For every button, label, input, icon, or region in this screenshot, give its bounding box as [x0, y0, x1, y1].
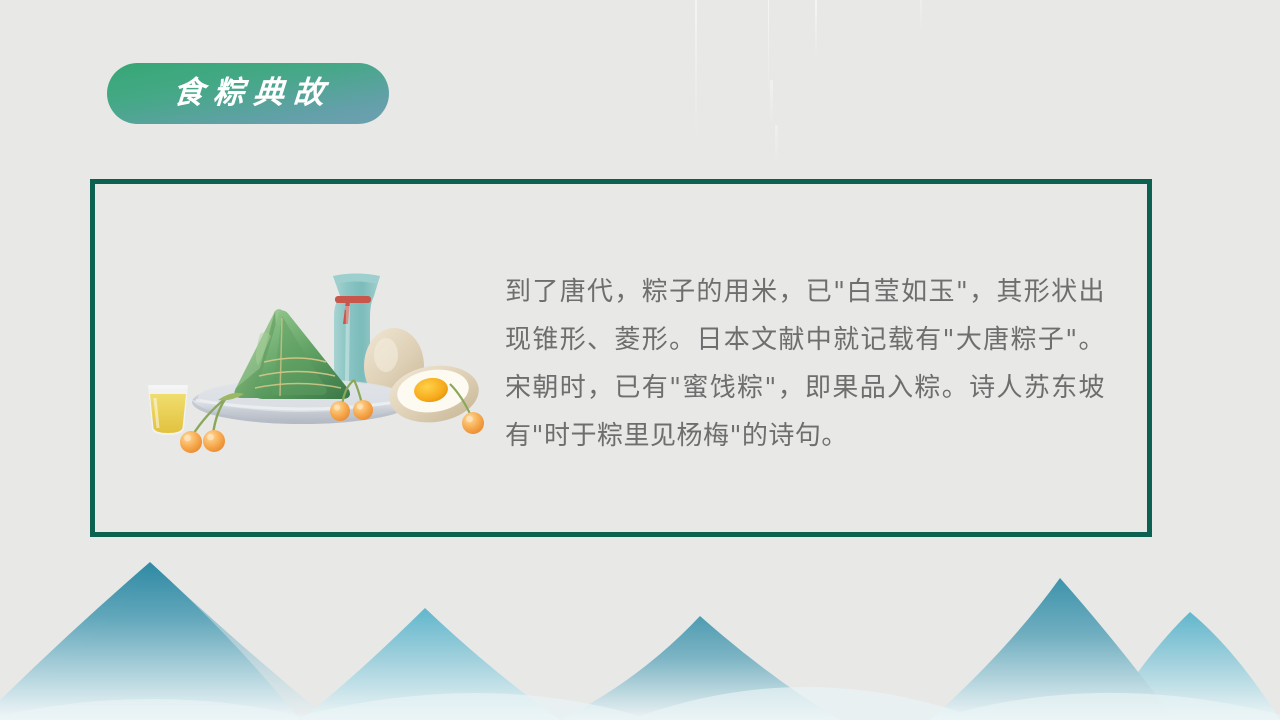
mountain-decoration: [0, 520, 1280, 720]
watermark-streak: [775, 125, 778, 165]
page-title: 食粽典故: [162, 78, 333, 109]
slide-canvas: 食粽典故: [0, 0, 1280, 720]
watermark-streak: [768, 0, 769, 100]
body-paragraph: 到了唐代，粽子的用米，已"白莹如玉"，其形状出现锥形、菱形。日本文献中就记载有"…: [505, 268, 1105, 460]
watermark-streak: [695, 0, 697, 140]
watermark-streak: [770, 80, 773, 125]
section-title-pill: 食粽典故: [107, 63, 389, 124]
glass-of-juice: [148, 385, 188, 435]
zongzi-dumpling: [234, 309, 350, 399]
zongzi-illustration: [130, 238, 492, 460]
watermark-streak: [920, 0, 922, 33]
watermark-streak: [815, 0, 817, 60]
